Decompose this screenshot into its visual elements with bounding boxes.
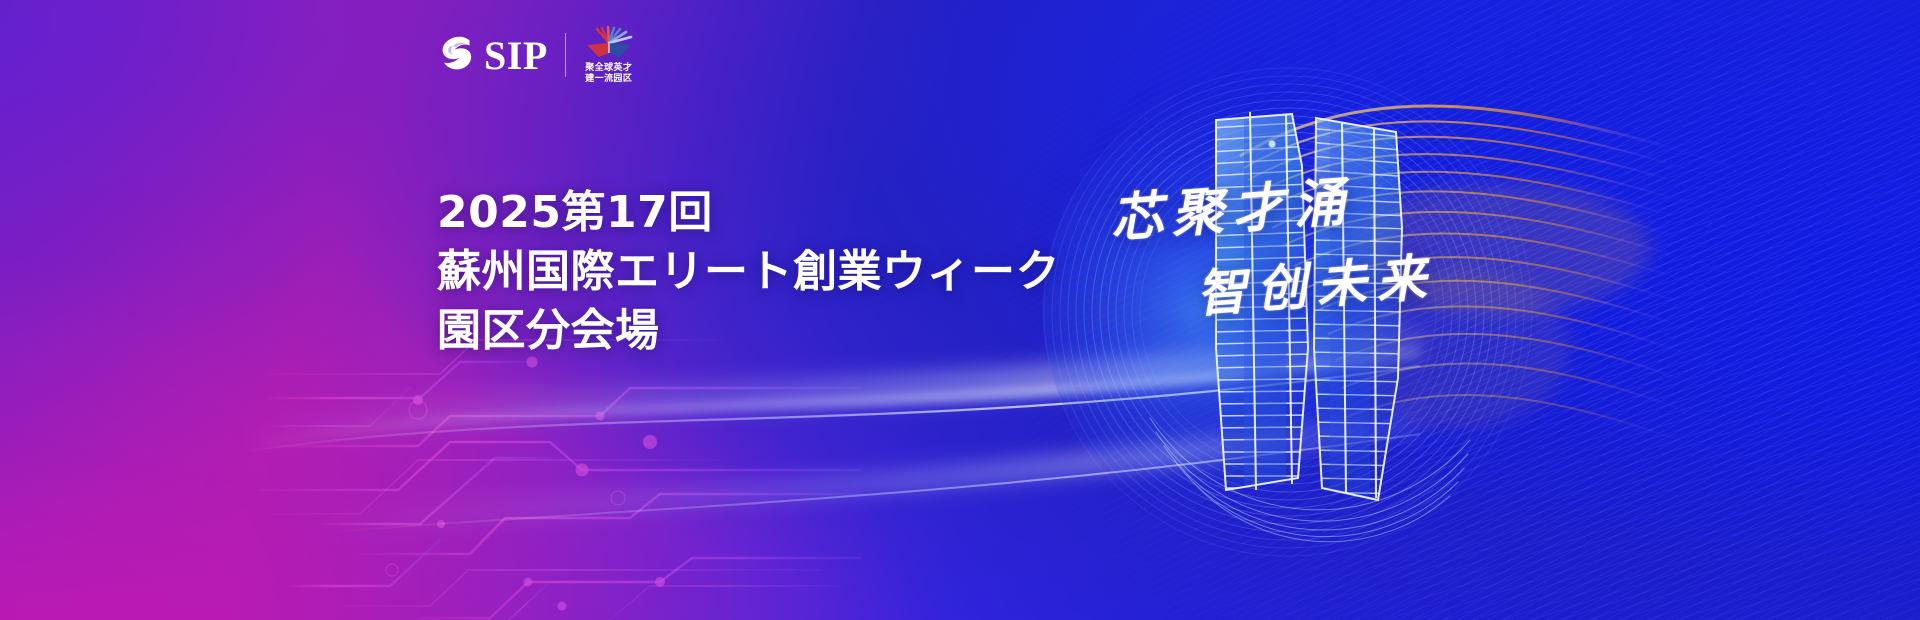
promo-banner: SIP 聚全球英才 建一流园区 2025第1 [0, 0, 1920, 620]
background-vignette [0, 0, 1920, 620]
